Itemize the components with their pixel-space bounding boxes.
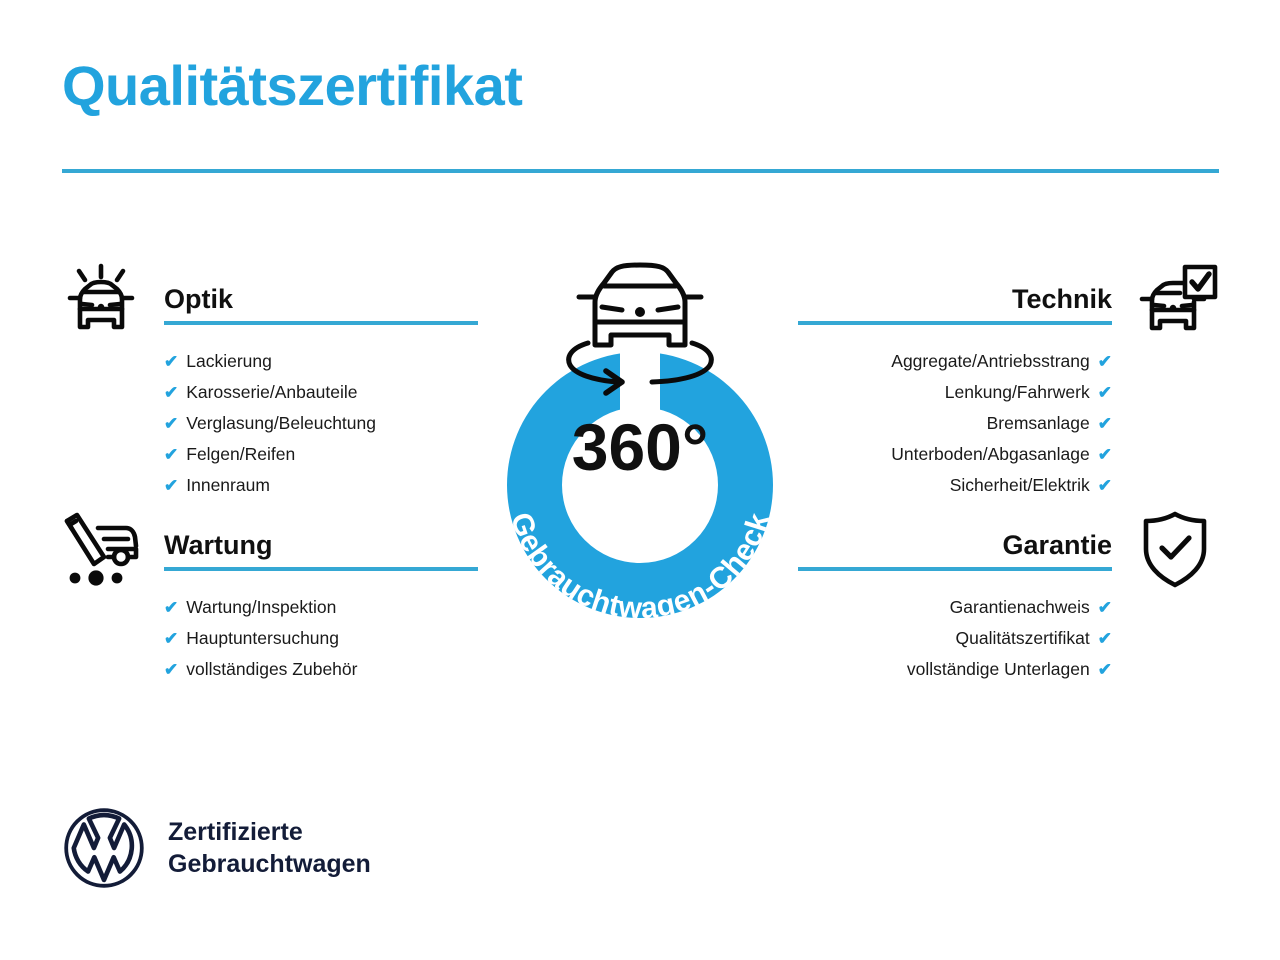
list-item-label: Verglasung/Beleuchtung [186,408,376,438]
badge-center-text: 360° [572,410,709,484]
footer-line-2: Gebrauchtwagen [168,848,371,880]
list-item-label: Aggregate/Antriebsstrang [891,346,1089,376]
list-item-label: Unterboden/Abgasanlage [891,439,1090,469]
section-technik: Technik Aggregate/Antriebsstrang✔ Lenkun… [798,262,1218,501]
section-underline [164,567,478,571]
check-icon: ✔ [1098,347,1112,377]
check-list-wartung: ✔Wartung/Inspektion ✔Hauptuntersuchung ✔… [164,592,478,685]
list-item-label: vollständige Unterlagen [907,654,1090,684]
list-item: Garantienachweis✔ [798,592,1112,623]
list-item: ✔Lackierung [164,346,478,377]
check-icon: ✔ [164,409,178,439]
list-item: vollständige Unterlagen✔ [798,654,1112,685]
section-header: Optik [58,262,478,340]
list-item: ✔Innenraum [164,470,478,501]
check-icon: ✔ [164,655,178,685]
section-header: Technik [798,262,1218,340]
list-item-label: Qualitätszertifikat [956,623,1090,653]
section-header: Wartung [58,508,478,586]
check-icon: ✔ [164,471,178,501]
check-icon: ✔ [164,347,178,377]
footer-line-1: Zertifizierte [168,816,371,848]
check-icon: ✔ [1098,409,1112,439]
list-item: ✔vollständiges Zubehör [164,654,478,685]
list-item-label: Wartung/Inspektion [186,592,336,622]
check-icon: ✔ [1098,624,1112,654]
list-item: ✔Hauptuntersuchung [164,623,478,654]
list-item-label: Lackierung [186,346,272,376]
shield-check-icon [1132,508,1218,590]
check-list-garantie: Garantienachweis✔ Qualitätszertifikat✔ v… [798,592,1112,685]
check-list-optik: ✔Lackierung ✔Karosserie/Anbauteile ✔Verg… [164,346,478,501]
list-item: Qualitätszertifikat✔ [798,623,1112,654]
list-item: ✔Felgen/Reifen [164,439,478,470]
section-title: Garantie [798,530,1112,560]
list-item-label: Felgen/Reifen [186,439,295,469]
check-icon: ✔ [1098,440,1112,470]
footer-logo: Zertifizierte Gebrauchtwagen [62,806,371,890]
section-title-wrap: Optik [164,284,478,325]
car-checkbox-icon [1132,262,1218,344]
section-title: Technik [798,284,1112,314]
list-item-label: Lenkung/Fahrwerk [945,377,1090,407]
list-item-label: Innenraum [186,470,270,500]
list-item: Sicherheit/Elektrik✔ [798,470,1112,501]
check-icon: ✔ [164,440,178,470]
check-icon: ✔ [164,378,178,408]
section-title-wrap: Technik [798,284,1112,325]
list-item-label: Garantienachweis [950,592,1090,622]
list-item: Aggregate/Antriebsstrang✔ [798,346,1112,377]
check-icon: ✔ [1098,593,1112,623]
list-item: ✔Karosserie/Anbauteile [164,377,478,408]
section-underline [798,321,1112,325]
check-icon: ✔ [164,624,178,654]
list-item-label: Bremsanlage [987,408,1090,438]
section-title-wrap: Garantie [798,530,1112,571]
header-divider [62,169,1219,173]
list-item-label: vollständiges Zubehör [186,654,357,684]
check-icon: ✔ [1098,378,1112,408]
check-icon: ✔ [1098,471,1112,501]
section-header: Garantie [798,508,1218,586]
check-icon: ✔ [1098,655,1112,685]
check-icon: ✔ [164,593,178,623]
section-title-wrap: Wartung [164,530,478,571]
section-garantie: Garantie Garantienachweis✔ Qualitätszert… [798,508,1218,685]
section-title: Optik [164,284,478,314]
page-title: Qualitätszertifikat [62,58,522,114]
car-shine-icon [58,262,144,344]
list-item-label: Karosserie/Anbauteile [186,377,357,407]
footer-text: Zertifizierte Gebrauchtwagen [168,816,371,880]
section-underline [164,321,478,325]
badge-360-gebrauchtwagen-check: Gebrauchtwagen-Check 360° [470,250,810,650]
section-title: Wartung [164,530,478,560]
section-optik: Optik ✔Lackierung ✔Karosserie/Anbauteile… [58,262,478,501]
list-item: Unterboden/Abgasanlage✔ [798,439,1112,470]
list-item: ✔Wartung/Inspektion [164,592,478,623]
list-item: Bremsanlage✔ [798,408,1112,439]
check-list-technik: Aggregate/Antriebsstrang✔ Lenkung/Fahrwe… [798,346,1112,501]
section-underline [798,567,1112,571]
list-item: ✔Verglasung/Beleuchtung [164,408,478,439]
vw-roundel-icon [62,806,146,890]
list-item-label: Sicherheit/Elektrik [950,470,1090,500]
section-wartung: Wartung ✔Wartung/Inspektion ✔Hauptunters… [58,508,478,685]
list-item-label: Hauptuntersuchung [186,623,339,653]
list-item: Lenkung/Fahrwerk✔ [798,377,1112,408]
car-pen-service-icon [58,508,144,590]
